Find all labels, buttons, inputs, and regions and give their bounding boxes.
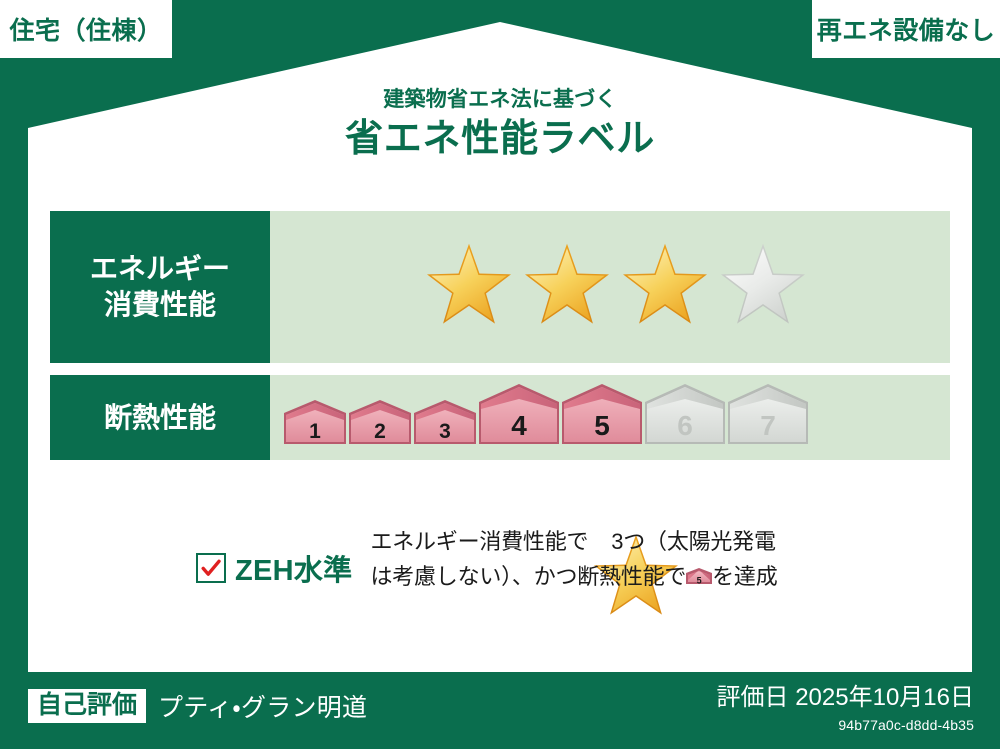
star-empty-icon: [715, 239, 811, 335]
insulation-grade-house-5: 5: [686, 566, 712, 588]
inline-house-icon: 5: [686, 564, 712, 586]
footer-left: 自己評価 プティ・グラン明道: [28, 688, 367, 724]
insulation-grade-house-2: 2: [349, 398, 411, 448]
insulation-label: 断熱性能: [104, 400, 216, 436]
svg-text:5: 5: [594, 410, 610, 441]
star-filled-icon: [421, 239, 517, 335]
insulation-grade-2: 2: [349, 398, 411, 453]
star-2: [519, 239, 615, 335]
star-1: [421, 239, 517, 335]
zeh-label: ZEH水準: [235, 547, 352, 589]
insulation-grade-7: 7: [728, 382, 808, 453]
svg-text:4: 4: [511, 410, 527, 441]
zeh-description: エネルギー消費性能で3つ（太陽光発電は考慮しない）、かつ断熱性能で5を達成: [370, 525, 782, 595]
property-name: プティ・グラン明道: [158, 688, 367, 724]
insulation-grade-scale: 1234567: [284, 382, 808, 453]
svg-text:2: 2: [374, 420, 386, 443]
insulation-grade-1: 1: [284, 398, 346, 453]
energy-label-line1: エネルギー: [90, 251, 230, 287]
insulation-grade-3: 3: [414, 398, 476, 453]
footer-right: 評価日 2025年10月16日 94b77a0c-d8dd-4b35: [717, 684, 974, 734]
insulation-grade-house-7: 7: [728, 382, 808, 448]
zeh-desc-part2: 3つ（太陽光発電: [611, 529, 775, 554]
zeh-desc-part3: は考慮しない）、かつ断熱性能で: [370, 564, 686, 589]
energy-performance-label: 住宅（住棟） 再エネ設備なし 建築物省エネ法に基づく 省エネ性能ラベル エネルギ…: [0, 0, 1000, 749]
zeh-checkbox: [196, 553, 226, 583]
insulation-grade-house-6: 6: [645, 382, 725, 448]
evaluation-date: 評価日 2025年10月16日: [717, 684, 974, 713]
insulation-grade-6: 6: [645, 382, 725, 453]
label-title-block: 建築物省エネ法に基づく 省エネ性能ラベル: [0, 88, 1000, 164]
check-icon: [200, 557, 222, 579]
star-filled-icon: [519, 239, 615, 335]
svg-text:1: 1: [309, 420, 321, 443]
svg-text:5: 5: [697, 575, 702, 585]
inline-star-icon: [588, 530, 611, 553]
star-rating: [421, 239, 811, 335]
insulation-grade-house-5: 5: [562, 382, 642, 448]
star-filled-icon: [617, 239, 713, 335]
page-title: 省エネ性能ラベル: [0, 116, 1000, 164]
svg-text:3: 3: [439, 420, 451, 443]
zeh-desc-part4: を達成: [712, 564, 777, 589]
energy-performance-label-cell: エネルギー 消費性能: [50, 211, 270, 363]
insulation-performance-label-cell: 断熱性能: [50, 375, 270, 460]
insulation-grade-5: 5: [562, 382, 642, 453]
insulation-grade-house-4: 4: [479, 382, 559, 448]
zeh-tag: ZEH水準: [196, 547, 352, 589]
svg-text:6: 6: [677, 410, 693, 441]
label-identifier: 94b77a0c-d8dd-4b35: [717, 716, 974, 734]
zeh-desc-part1: エネルギー消費性能で: [370, 529, 588, 554]
svg-text:7: 7: [760, 410, 776, 441]
star-4: [715, 239, 811, 335]
energy-performance-row: エネルギー 消費性能: [50, 211, 950, 363]
energy-performance-value-cell: [270, 211, 950, 363]
star-3: [617, 239, 713, 335]
insulation-grade-house-1: 1: [284, 398, 346, 448]
insulation-performance-row: 断熱性能 1234567: [50, 375, 950, 460]
zeh-standard-block: ZEH水準 エネルギー消費性能で3つ（太陽光発電は考慮しない）、かつ断熱性能で5…: [196, 525, 782, 595]
insulation-performance-value-cell: 1234567: [270, 375, 950, 460]
insulation-grade-house-3: 3: [414, 398, 476, 448]
insulation-grade-4: 4: [479, 382, 559, 453]
self-evaluation-badge: 自己評価: [28, 689, 146, 723]
energy-label-line2: 消費性能: [104, 287, 216, 323]
title-subtitle: 建築物省エネ法に基づく: [0, 88, 1000, 111]
badge-building-type: 住宅（住棟）: [0, 0, 172, 58]
badge-renewable-energy: 再エネ設備なし: [812, 0, 1000, 58]
